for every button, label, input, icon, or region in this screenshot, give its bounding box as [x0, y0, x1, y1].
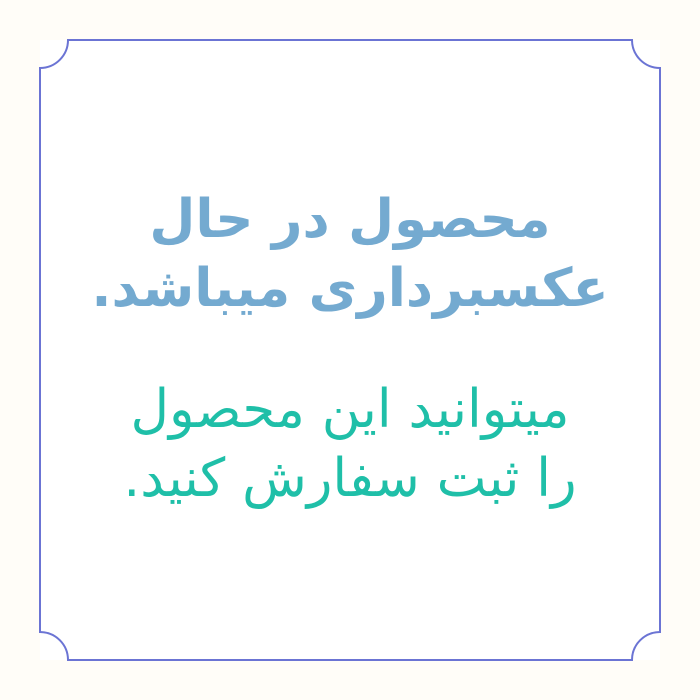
- placeholder-message-area: محصول در حال عکسبرداری میباشد. میتوانید …: [40, 40, 660, 660]
- photography-status-line-1: محصول در حال: [58, 186, 642, 255]
- photography-status-line-2: عکسبرداری میباشد.: [58, 255, 642, 324]
- product-image-placeholder: محصول در حال عکسبرداری میباشد. میتوانید …: [0, 0, 700, 700]
- photography-status-message: محصول در حال عکسبرداری میباشد.: [58, 186, 642, 324]
- order-availability-line-2: را ثبت سفارش کنید.: [58, 445, 642, 514]
- order-availability-line-1: میتوانید این محصول: [58, 376, 642, 445]
- order-availability-message: میتوانید این محصول را ثبت سفارش کنید.: [58, 376, 642, 514]
